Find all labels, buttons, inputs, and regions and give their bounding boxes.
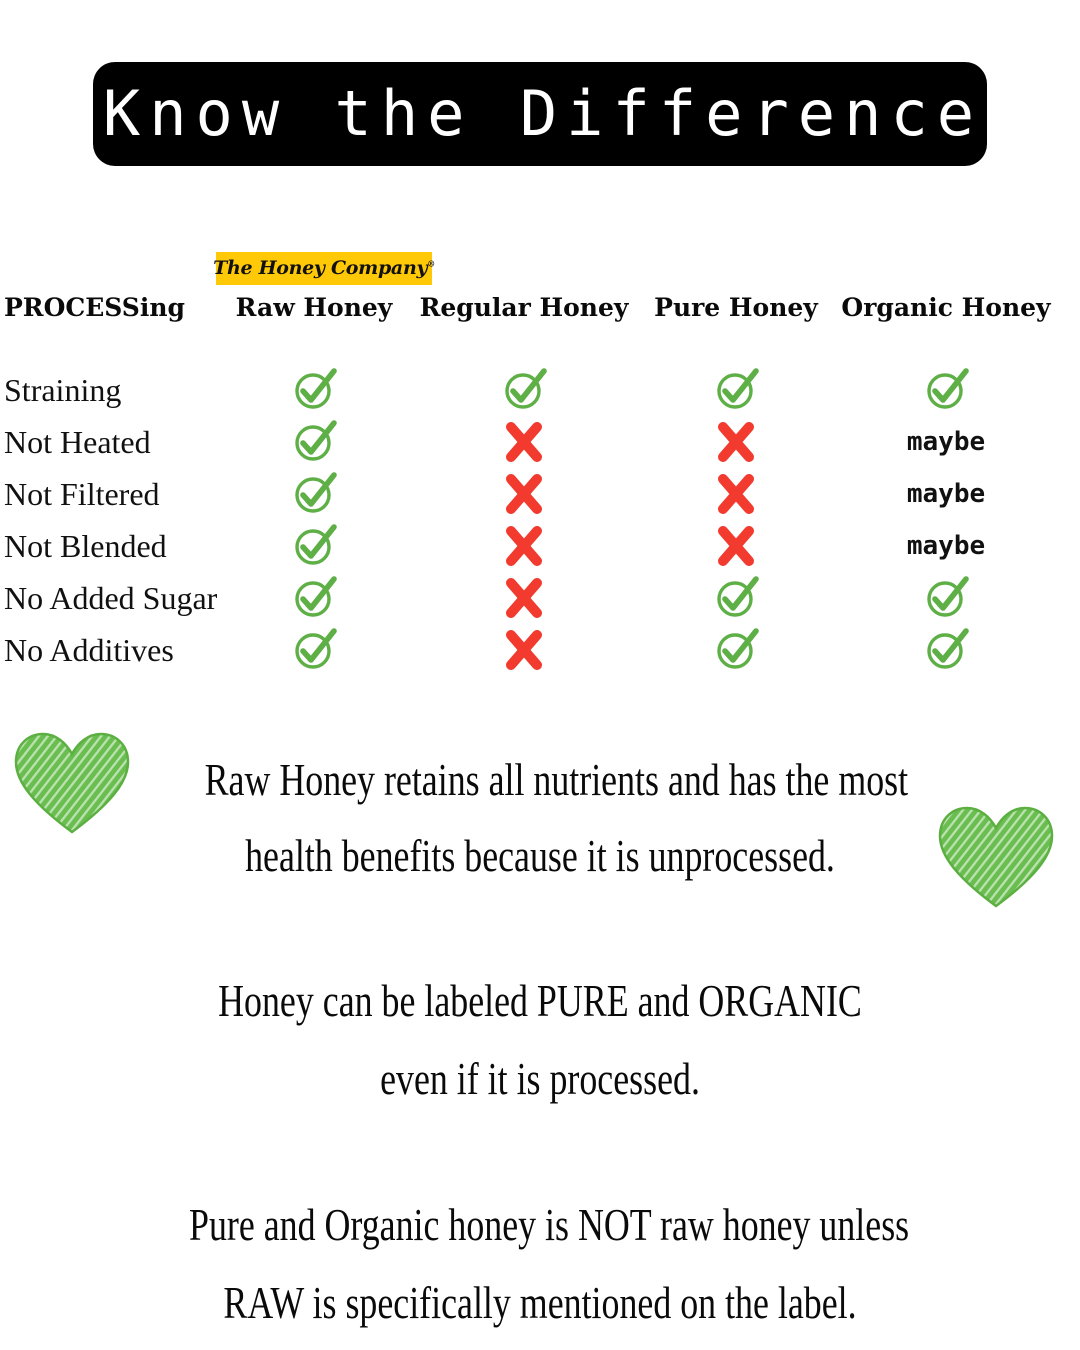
table-row: Straining — [0, 364, 1080, 416]
note-not-raw-unless-stated: Pure and Organic honey is NOT raw honey … — [90, 1186, 990, 1342]
note-line: Raw Honey retains all nutrients and has … — [205, 742, 876, 818]
table-row: Not Blendedmaybe — [0, 520, 1080, 572]
maybe-label: maybe — [832, 520, 1060, 572]
check-icon — [220, 468, 408, 520]
note-line: RAW is specifically mentioned on the lab… — [189, 1264, 891, 1342]
column-header-processing: PROCESSing — [0, 295, 220, 320]
note-line: Pure and Organic honey is NOT raw honey … — [189, 1186, 891, 1264]
row-label: No Added Sugar — [0, 582, 220, 614]
cross-icon — [408, 520, 640, 572]
cross-icon — [408, 572, 640, 624]
maybe-text: maybe — [907, 533, 985, 559]
row-label: Not Filtered — [0, 478, 220, 510]
check-icon — [408, 364, 640, 416]
table-row: No Additives — [0, 624, 1080, 676]
table-row: Not Filteredmaybe — [0, 468, 1080, 520]
row-label: No Additives — [0, 634, 220, 666]
check-icon — [220, 572, 408, 624]
brand-logo-chip: The Honey Company® — [216, 252, 432, 285]
column-header-pure-honey: Pure Honey — [640, 295, 832, 320]
cross-icon — [640, 468, 832, 520]
check-icon — [832, 364, 1060, 416]
maybe-text: maybe — [907, 429, 985, 455]
note-pure-organic-labeling: Honey can be labeled PURE and ORGANIC ev… — [110, 962, 970, 1118]
note-line: Honey can be labeled PURE and ORGANIC — [205, 962, 876, 1040]
row-label: Not Heated — [0, 426, 220, 458]
column-header-organic-honey: Organic Honey — [832, 295, 1060, 320]
check-icon — [220, 416, 408, 468]
brand-name: The Honey Company — [213, 257, 427, 279]
brand-logo-text: The Honey Company® — [213, 259, 435, 278]
page-title: Know the Difference — [97, 83, 983, 145]
table-body: StrainingNot HeatedmaybeNot Filteredmayb… — [0, 364, 1080, 676]
maybe-text: maybe — [907, 481, 985, 507]
check-icon — [640, 572, 832, 624]
cross-icon — [408, 416, 640, 468]
table-row: Not Heatedmaybe — [0, 416, 1080, 468]
row-label: Not Blended — [0, 530, 220, 562]
check-icon — [832, 572, 1060, 624]
row-label: Straining — [0, 374, 220, 406]
comparison-table: PROCESSing Raw Honey Regular Honey Pure … — [0, 286, 1080, 676]
maybe-label: maybe — [832, 468, 1060, 520]
column-header-raw-honey: Raw Honey — [220, 295, 408, 320]
cross-icon — [408, 468, 640, 520]
cross-icon — [408, 624, 640, 676]
check-icon — [640, 364, 832, 416]
check-icon — [220, 624, 408, 676]
maybe-label: maybe — [832, 416, 1060, 468]
registered-trademark-icon: ® — [427, 259, 435, 269]
column-header-regular-honey: Regular Honey — [408, 295, 640, 320]
check-icon — [220, 364, 408, 416]
check-icon — [220, 520, 408, 572]
check-icon — [640, 624, 832, 676]
cross-icon — [640, 416, 832, 468]
cross-icon — [640, 520, 832, 572]
note-line: health benefits because it is unprocesse… — [205, 818, 876, 894]
table-row: No Added Sugar — [0, 572, 1080, 624]
note-raw-honey-benefits: Raw Honey retains all nutrients and has … — [110, 742, 970, 894]
table-header-row: PROCESSing Raw Honey Regular Honey Pure … — [0, 286, 1080, 320]
check-icon — [832, 624, 1060, 676]
note-line: even if it is processed. — [205, 1040, 876, 1118]
title-banner: Know the Difference — [93, 62, 987, 166]
